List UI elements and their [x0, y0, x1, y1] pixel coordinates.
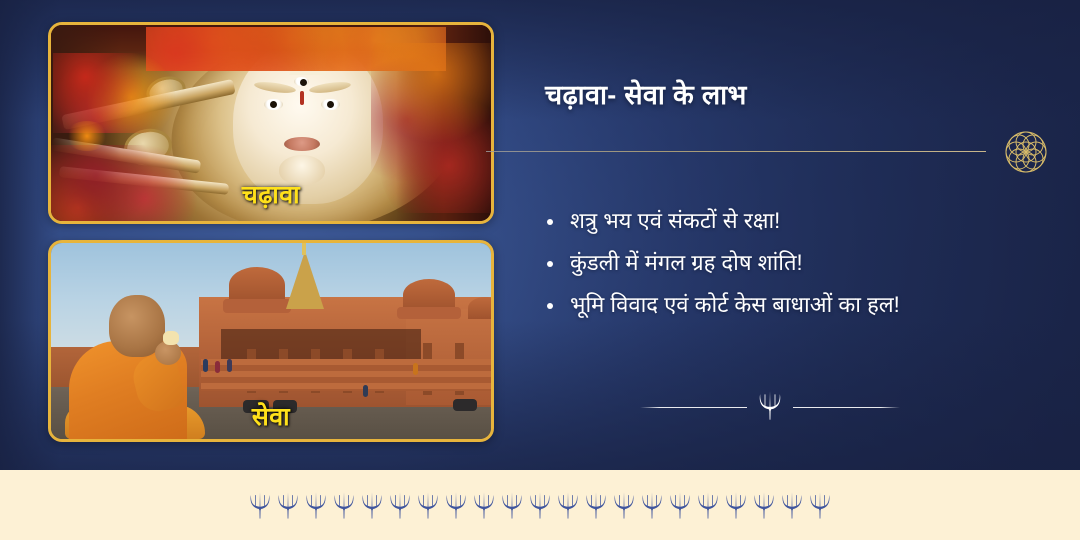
trishul-icon — [332, 491, 356, 519]
chadhava-caption: चढ़ावा — [51, 177, 491, 211]
trishul-icon — [472, 491, 496, 519]
bottom-trishul-strip — [0, 470, 1080, 540]
trishul-icon — [276, 491, 300, 519]
trishul-icon — [528, 491, 552, 519]
seva-photo-card[interactable]: सेवा — [48, 240, 494, 442]
chadhava-photo-card[interactable]: चढ़ावा — [48, 22, 494, 224]
list-item: भूमि विवाद एवं कोर्ट केस बाधाओं का हल! — [540, 284, 1050, 326]
trishul-icon — [388, 491, 412, 519]
seva-caption: सेवा — [51, 399, 491, 433]
trishul-row — [0, 470, 1080, 540]
trishul-icon — [808, 491, 832, 519]
trishul-icon — [757, 390, 783, 425]
trishul-icon — [416, 491, 440, 519]
trishul-icon — [668, 491, 692, 519]
trishul-icon — [500, 491, 524, 519]
list-item: कुंडली में मंगल ग्रह दोष शांति! — [540, 242, 1050, 284]
divider-line-left — [640, 407, 747, 408]
page-title: चढ़ावा- सेवा के लाभ — [545, 75, 747, 112]
trishul-icon — [612, 491, 636, 519]
trishul-icon — [556, 491, 580, 519]
trishul-icon — [780, 491, 804, 519]
trishul-icon — [752, 491, 776, 519]
trishul-icon — [724, 491, 748, 519]
trishul-icon — [360, 491, 384, 519]
promo-slide: चढ़ावा — [0, 0, 1080, 540]
benefits-list: शत्रु भय एवं संकटों से रक्षा! कुंडली में… — [540, 200, 1050, 326]
mandala-rosette-icon — [1002, 128, 1050, 176]
trishul-divider — [640, 385, 900, 429]
list-item: शत्रु भय एवं संकटों से रक्षा! — [540, 200, 1050, 242]
trishul-icon — [248, 491, 272, 519]
trishul-icon — [444, 491, 468, 519]
gold-hairline — [486, 151, 986, 152]
trishul-icon — [696, 491, 720, 519]
trishul-icon — [304, 491, 328, 519]
divider-line-right — [793, 407, 900, 408]
trishul-icon — [584, 491, 608, 519]
trishul-icon — [640, 491, 664, 519]
